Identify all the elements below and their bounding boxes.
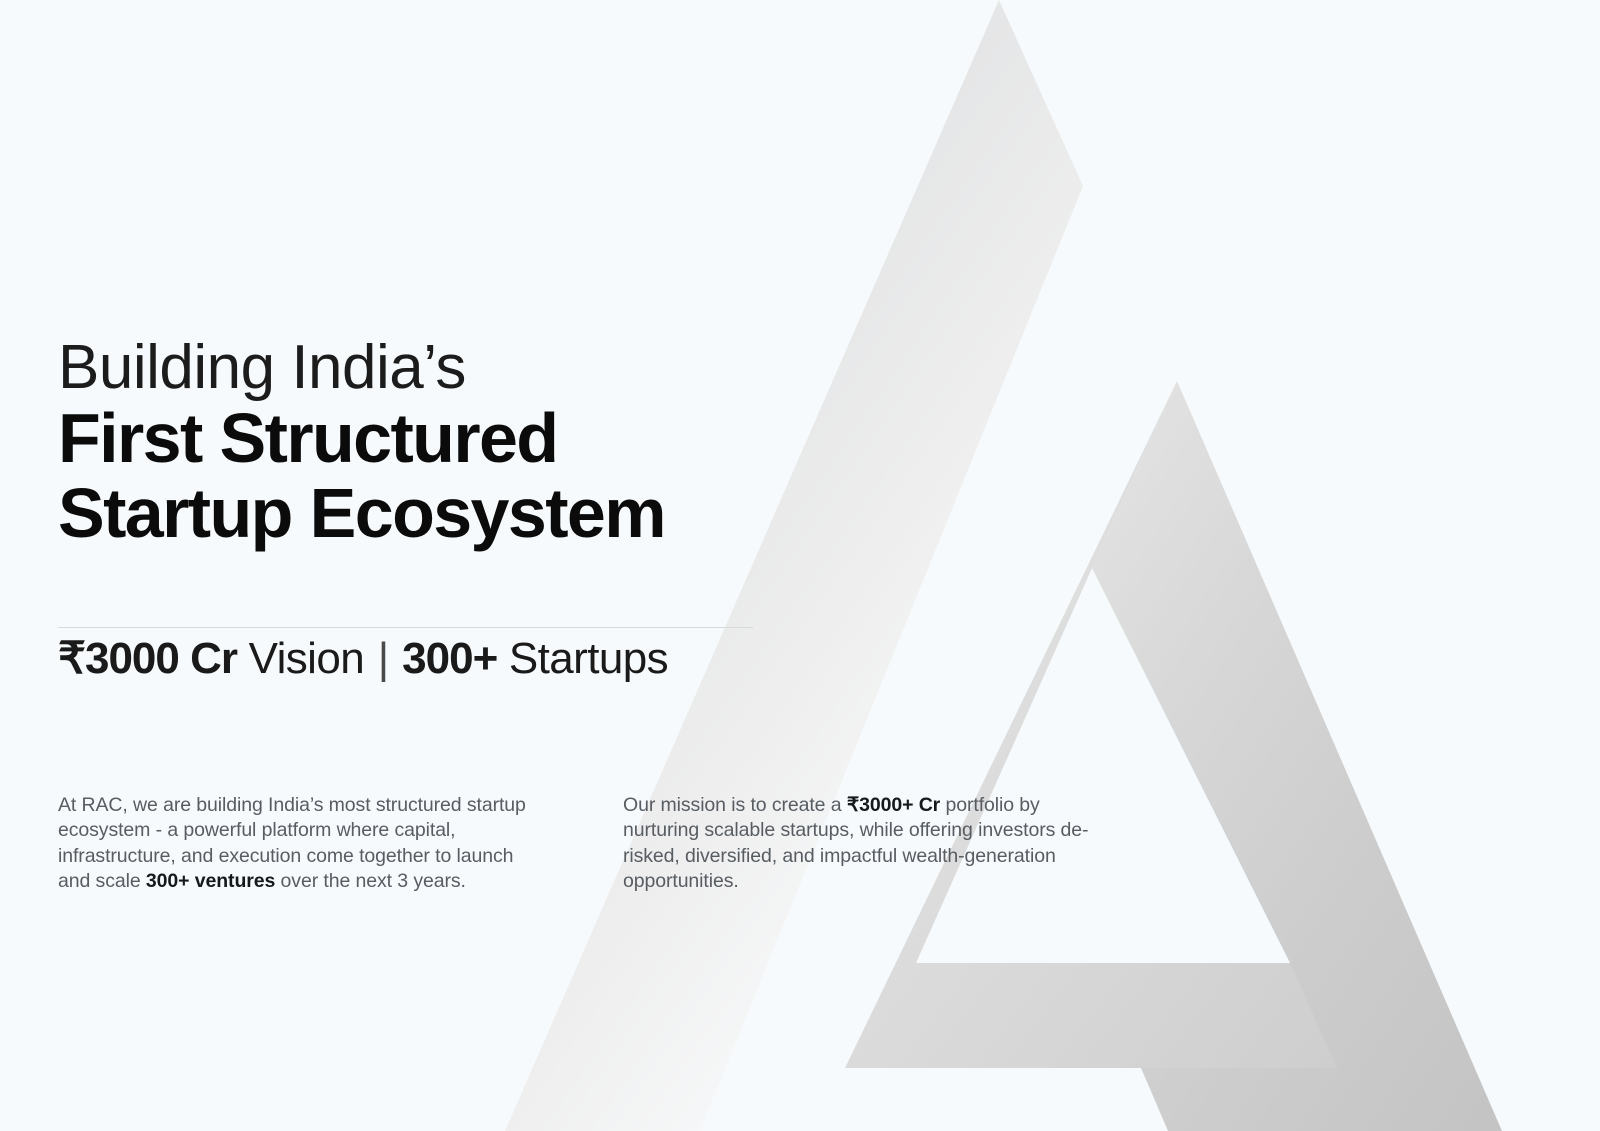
headline-line-1: Building India’s (58, 335, 818, 401)
headline-divider-rule (58, 627, 753, 628)
headline-block: Building India’s First Structured Startu… (58, 335, 818, 552)
paragraph-left-part2: over the next 3 years. (275, 870, 466, 892)
paragraph-left-highlight: 300+ ventures (146, 870, 275, 892)
headline-line-3: Startup Ecosystem (58, 476, 818, 552)
paragraph-left: At RAC, we are building India’s most str… (58, 793, 550, 894)
paragraph-right: Our mission is to create a ₹3000+ Cr por… (623, 793, 1101, 894)
subtitle-amount: ₹3000 Cr (58, 634, 237, 683)
subtitle-stats: ₹3000 Cr Vision | 300+ Startups (58, 629, 668, 688)
subtitle-amount-suffix: Vision (237, 634, 364, 683)
paragraph-right-part1: Our mission is to create a (623, 794, 847, 816)
slide-content: Building India’s First Structured Startu… (0, 0, 1600, 1131)
subtitle-count: 300+ (402, 634, 497, 683)
subtitle-count-suffix: Startups (497, 634, 668, 683)
headline-line-2: First Structured (58, 401, 818, 477)
slide-canvas: Building India’s First Structured Startu… (0, 0, 1600, 1131)
subtitle-separator: | (376, 634, 391, 683)
paragraph-right-highlight: ₹3000+ Cr (847, 794, 940, 816)
